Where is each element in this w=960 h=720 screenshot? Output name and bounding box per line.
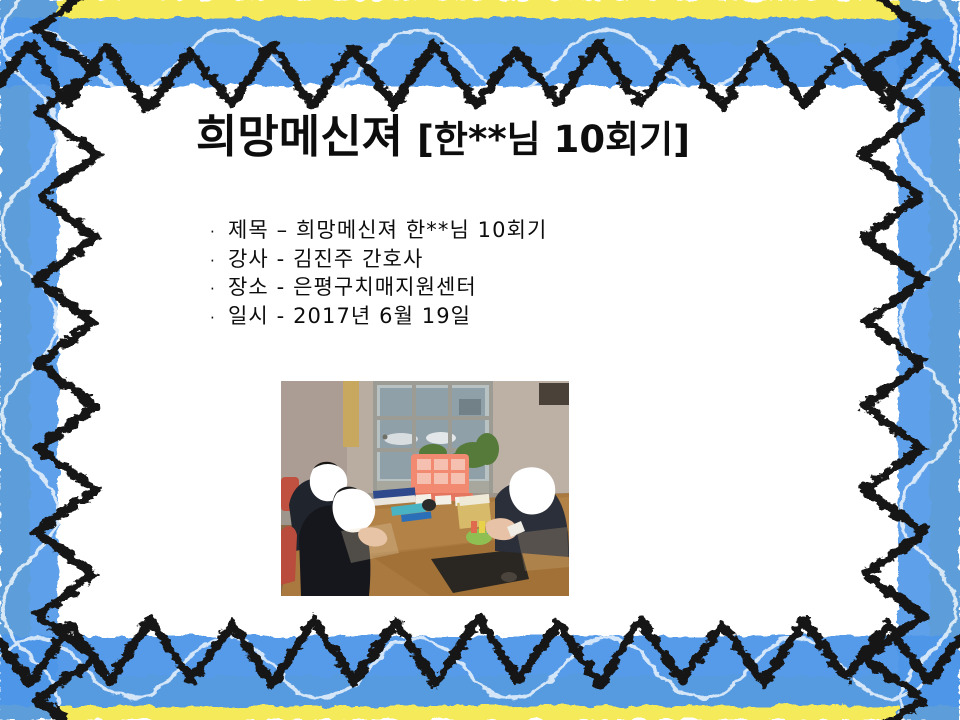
list-item: · 강사 - 김진주 간호사 (210, 249, 547, 278)
bullet-dot-icon: · (210, 282, 228, 297)
border-white-chalk-arcs (0, 0, 956, 720)
title-bracket-text: [한**님 10회기] (417, 118, 690, 161)
list-item-text: 강사 - 김진주 간호사 (228, 249, 423, 270)
list-item: · 일시 - 2017년 6월 19일 (210, 306, 547, 335)
border-yellow-band (0, 0, 960, 720)
list-item-text: 장소 - 은평구치매지원센터 (228, 277, 477, 298)
list-item: · 장소 - 은평구치매지원센터 (210, 277, 547, 306)
list-item-text: 제목 – 희망메신져 한**님 10회기 (228, 220, 547, 241)
border-blue-band (0, 0, 960, 720)
list-item-text: 일시 - 2017년 6월 19일 (228, 306, 471, 327)
border-black-zigzag (0, 0, 960, 720)
crayon-border-frame (0, 0, 960, 720)
slide-title: 희망메신져[한**님 10회기] (196, 114, 690, 159)
slide-canvas: 희망메신져[한**님 10회기] · 제목 – 희망메신져 한**님 10회기 … (0, 0, 960, 720)
bullet-dot-icon: · (210, 311, 228, 326)
title-main-text: 희망메신져 (196, 110, 403, 163)
list-item: · 제목 – 희망메신져 한**님 10회기 (210, 220, 547, 249)
detail-list: · 제목 – 희망메신져 한**님 10회기 · 강사 - 김진주 간호사 · … (210, 220, 547, 334)
bullet-dot-icon: · (210, 225, 228, 240)
bullet-dot-icon: · (210, 254, 228, 269)
meeting-photo (281, 381, 569, 596)
